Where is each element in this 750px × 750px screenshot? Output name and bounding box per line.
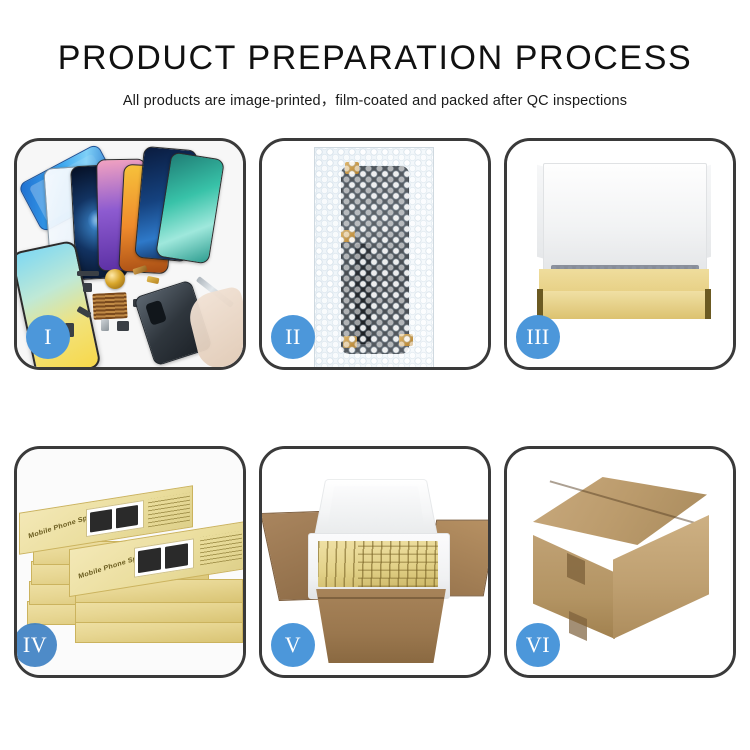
camera-module-part <box>105 269 125 289</box>
process-step-3[interactable]: III <box>504 138 736 370</box>
process-step-grid: I II <box>14 138 736 678</box>
battery-connector-part <box>77 271 99 276</box>
front-window-screen-a <box>138 548 161 574</box>
metal-bracket-part <box>101 319 109 331</box>
printed-box-front-text-lines <box>200 531 242 566</box>
printed-box-rear-text-lines <box>148 493 190 528</box>
logic-board-part <box>92 292 127 320</box>
process-step-2[interactable]: II <box>259 138 491 370</box>
printed-box-rear-window <box>86 500 144 537</box>
process-step-5[interactable]: V <box>259 446 491 678</box>
step-1-badge: I <box>26 315 70 359</box>
page-subtitle: All products are image-printed，film-coat… <box>0 75 750 110</box>
box-white-lid <box>543 163 707 277</box>
step-6-badge: VI <box>516 623 560 667</box>
printed-box-front-window <box>134 538 194 578</box>
step-5-badge: V <box>271 623 315 667</box>
process-step-4[interactable]: Mobile Phone Spare Parts Mobile Phone Sp… <box>14 446 246 678</box>
page-header: PRODUCT PREPARATION PROCESS All products… <box>0 0 750 110</box>
page-title: PRODUCT PREPARATION PROCESS <box>0 0 750 75</box>
retail-box-edges-horizontal <box>358 541 438 587</box>
carton-body <box>312 589 450 663</box>
front-window-screen-b <box>165 543 188 569</box>
step-2-badge: II <box>271 315 315 359</box>
kraft-box-front <box>539 291 709 319</box>
bubble-wrap-bag <box>314 147 434 367</box>
foam-box-lid <box>314 479 439 539</box>
process-step-1[interactable]: I <box>14 138 246 370</box>
process-step-6[interactable]: VI <box>504 446 736 678</box>
speaker-part <box>117 321 129 331</box>
carton-top-edge <box>318 597 444 599</box>
kraft-box-right-edge <box>705 289 711 319</box>
small-ic-part <box>83 283 92 292</box>
step-3-badge: III <box>516 315 560 359</box>
rear-window-screen-b <box>116 505 138 528</box>
step-4-badge: IV <box>14 623 57 667</box>
rear-window-screen-a <box>90 509 112 532</box>
bubble-texture-overlay <box>315 148 433 367</box>
